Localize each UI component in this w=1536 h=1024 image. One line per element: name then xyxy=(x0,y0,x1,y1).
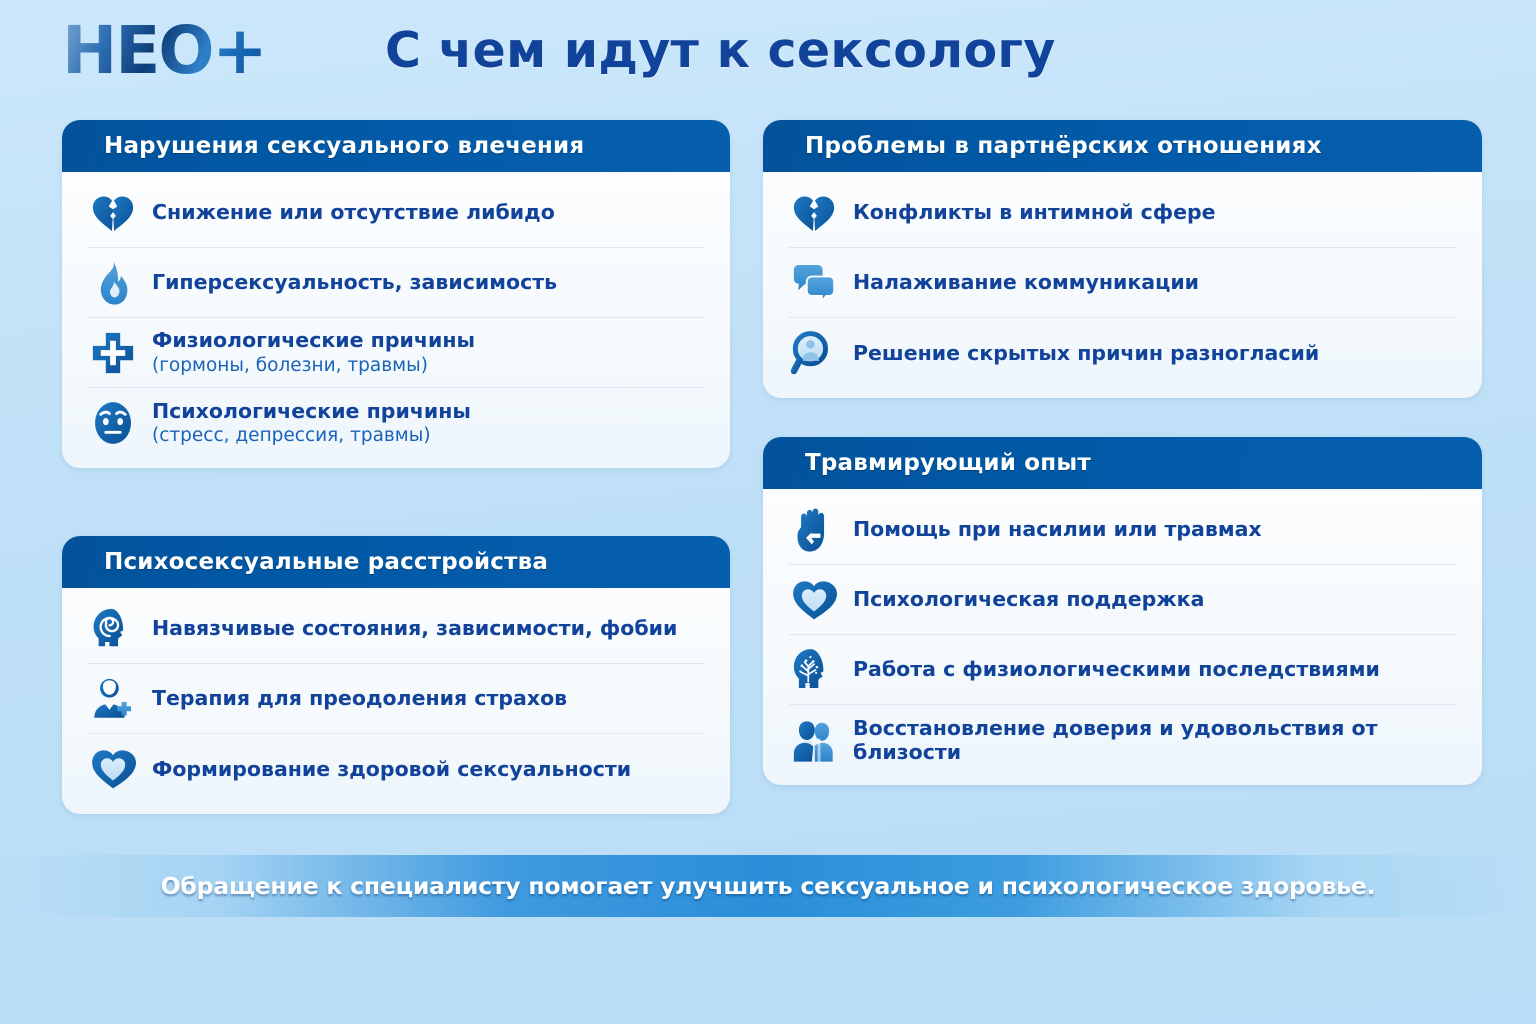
list-item-title: Конфликты в интимной сфере xyxy=(853,200,1216,224)
list-item-label: Восстановление доверия и удовольствия от… xyxy=(853,716,1456,764)
list-item[interactable]: Работа с физиологическими последствиями xyxy=(789,635,1456,705)
list-item-label: Помощь при насилии или травмах xyxy=(853,517,1262,541)
card-title: Нарушения сексуального влечения xyxy=(104,133,584,159)
list-item-title: Терапия для преодоления страхов xyxy=(152,686,567,710)
flame-icon xyxy=(88,258,138,308)
card-body: Снижение или отсутствие либидоГиперсексу… xyxy=(62,172,730,468)
list-item-subtitle: (гормоны, болезни, травмы) xyxy=(152,355,475,377)
head-tree-icon xyxy=(789,645,839,695)
sad-face-icon xyxy=(88,398,138,448)
list-item-title: Психологическая поддержка xyxy=(853,587,1204,611)
card-header: Травмирующий опыт xyxy=(763,437,1482,489)
list-item-title: Навязчивые состояния, зависимости, фобии xyxy=(152,616,677,640)
list-item-title: Работа с физиологическими последствиями xyxy=(853,657,1380,681)
list-item[interactable]: Гиперсексуальность, зависимость xyxy=(88,248,704,318)
list-item-title: Помощь при насилии или травмах xyxy=(853,517,1262,541)
card-trauma: Травмирующий опытПомощь при насилии или … xyxy=(763,437,1482,785)
medical-cross-icon xyxy=(88,328,138,378)
heart-in-heart-icon xyxy=(88,744,138,794)
list-item[interactable]: Налаживание коммуникации xyxy=(789,248,1456,318)
card-header: Психосексуальные расстройства xyxy=(62,536,730,588)
brand-logo: НЕО+ xyxy=(62,18,266,84)
broken-heart-icon xyxy=(88,188,138,238)
list-item-label: Навязчивые состояния, зависимости, фобии xyxy=(152,616,677,640)
list-item-title: Снижение или отсутствие либидо xyxy=(152,200,555,224)
broken-heart-icon xyxy=(789,188,839,238)
card-psychosexual: Психосексуальные расстройстваНавязчивые … xyxy=(62,536,730,814)
list-item[interactable]: Решение скрытых причин разногласий xyxy=(789,318,1456,388)
person-plus-icon xyxy=(88,674,138,724)
page-header: НЕО+ С чем идут к сексологу xyxy=(0,0,1536,112)
list-item[interactable]: Физиологические причины(гормоны, болезни… xyxy=(88,318,704,388)
list-item-label: Физиологические причины(гормоны, болезни… xyxy=(152,328,475,376)
list-item-label: Гиперсексуальность, зависимость xyxy=(152,270,557,294)
list-item-label: Налаживание коммуникации xyxy=(853,270,1199,294)
card-body: Помощь при насилии или травмахПсихологич… xyxy=(763,489,1482,785)
card-desire: Нарушения сексуального влеченияСнижение … xyxy=(62,120,730,468)
open-hand-icon xyxy=(789,505,839,555)
list-item-title: Физиологические причины xyxy=(152,328,475,352)
list-item-label: Терапия для преодоления страхов xyxy=(152,686,567,710)
list-item[interactable]: Терапия для преодоления страхов xyxy=(88,664,704,734)
list-item-label: Формирование здоровой сексуальности xyxy=(152,757,631,781)
list-item-title: Восстановление доверия и удовольствия от… xyxy=(853,716,1377,764)
card-title: Психосексуальные расстройства xyxy=(104,549,548,575)
list-item[interactable]: Навязчивые состояния, зависимости, фобии xyxy=(88,594,704,664)
list-item[interactable]: Восстановление доверия и удовольствия от… xyxy=(789,705,1456,775)
card-header: Нарушения сексуального влечения xyxy=(62,120,730,172)
card-header: Проблемы в партнёрских отношениях xyxy=(763,120,1482,172)
magnifier-person-icon xyxy=(789,328,839,378)
list-item-label: Решение скрытых причин разногласий xyxy=(853,341,1319,365)
list-item-label: Конфликты в интимной сфере xyxy=(853,200,1216,224)
list-item[interactable]: Помощь при насилии или травмах xyxy=(789,495,1456,565)
speech-bubbles-icon xyxy=(789,258,839,308)
list-item[interactable]: Психологические причины(стресс, депресси… xyxy=(88,388,704,458)
list-item[interactable]: Психологическая поддержка xyxy=(789,565,1456,635)
card-body: Навязчивые состояния, зависимости, фобии… xyxy=(62,588,730,814)
list-item-label: Психологические причины(стресс, депресси… xyxy=(152,399,471,447)
footer-text: Обращение к специалисту помогает улучшит… xyxy=(161,872,1376,900)
list-item-title: Психологические причины xyxy=(152,399,471,423)
list-item-title: Налаживание коммуникации xyxy=(853,270,1199,294)
card-title: Проблемы в партнёрских отношениях xyxy=(805,133,1322,159)
list-item-title: Формирование здоровой сексуальности xyxy=(152,757,631,781)
list-item-title: Решение скрытых причин разногласий xyxy=(853,341,1319,365)
list-item-label: Работа с физиологическими последствиями xyxy=(853,657,1380,681)
footer-banner: Обращение к специалисту помогает улучшит… xyxy=(0,855,1536,917)
list-item-label: Снижение или отсутствие либидо xyxy=(152,200,555,224)
card-body: Конфликты в интимной сфереНалаживание ко… xyxy=(763,172,1482,398)
card-partnership: Проблемы в партнёрских отношенияхКонфлик… xyxy=(763,120,1482,398)
list-item-subtitle: (стресс, депрессия, травмы) xyxy=(152,425,471,447)
couple-embrace-icon xyxy=(789,715,839,765)
list-item-label: Психологическая поддержка xyxy=(853,587,1204,611)
list-item[interactable]: Конфликты в интимной сфере xyxy=(789,178,1456,248)
list-item[interactable]: Снижение или отсутствие либидо xyxy=(88,178,704,248)
head-spiral-icon xyxy=(88,604,138,654)
list-item-title: Гиперсексуальность, зависимость xyxy=(152,270,557,294)
card-title: Травмирующий опыт xyxy=(805,450,1091,476)
page-title: С чем идут к сексологу xyxy=(385,22,1056,79)
list-item[interactable]: Формирование здоровой сексуальности xyxy=(88,734,704,804)
heart-in-heart-icon xyxy=(789,575,839,625)
